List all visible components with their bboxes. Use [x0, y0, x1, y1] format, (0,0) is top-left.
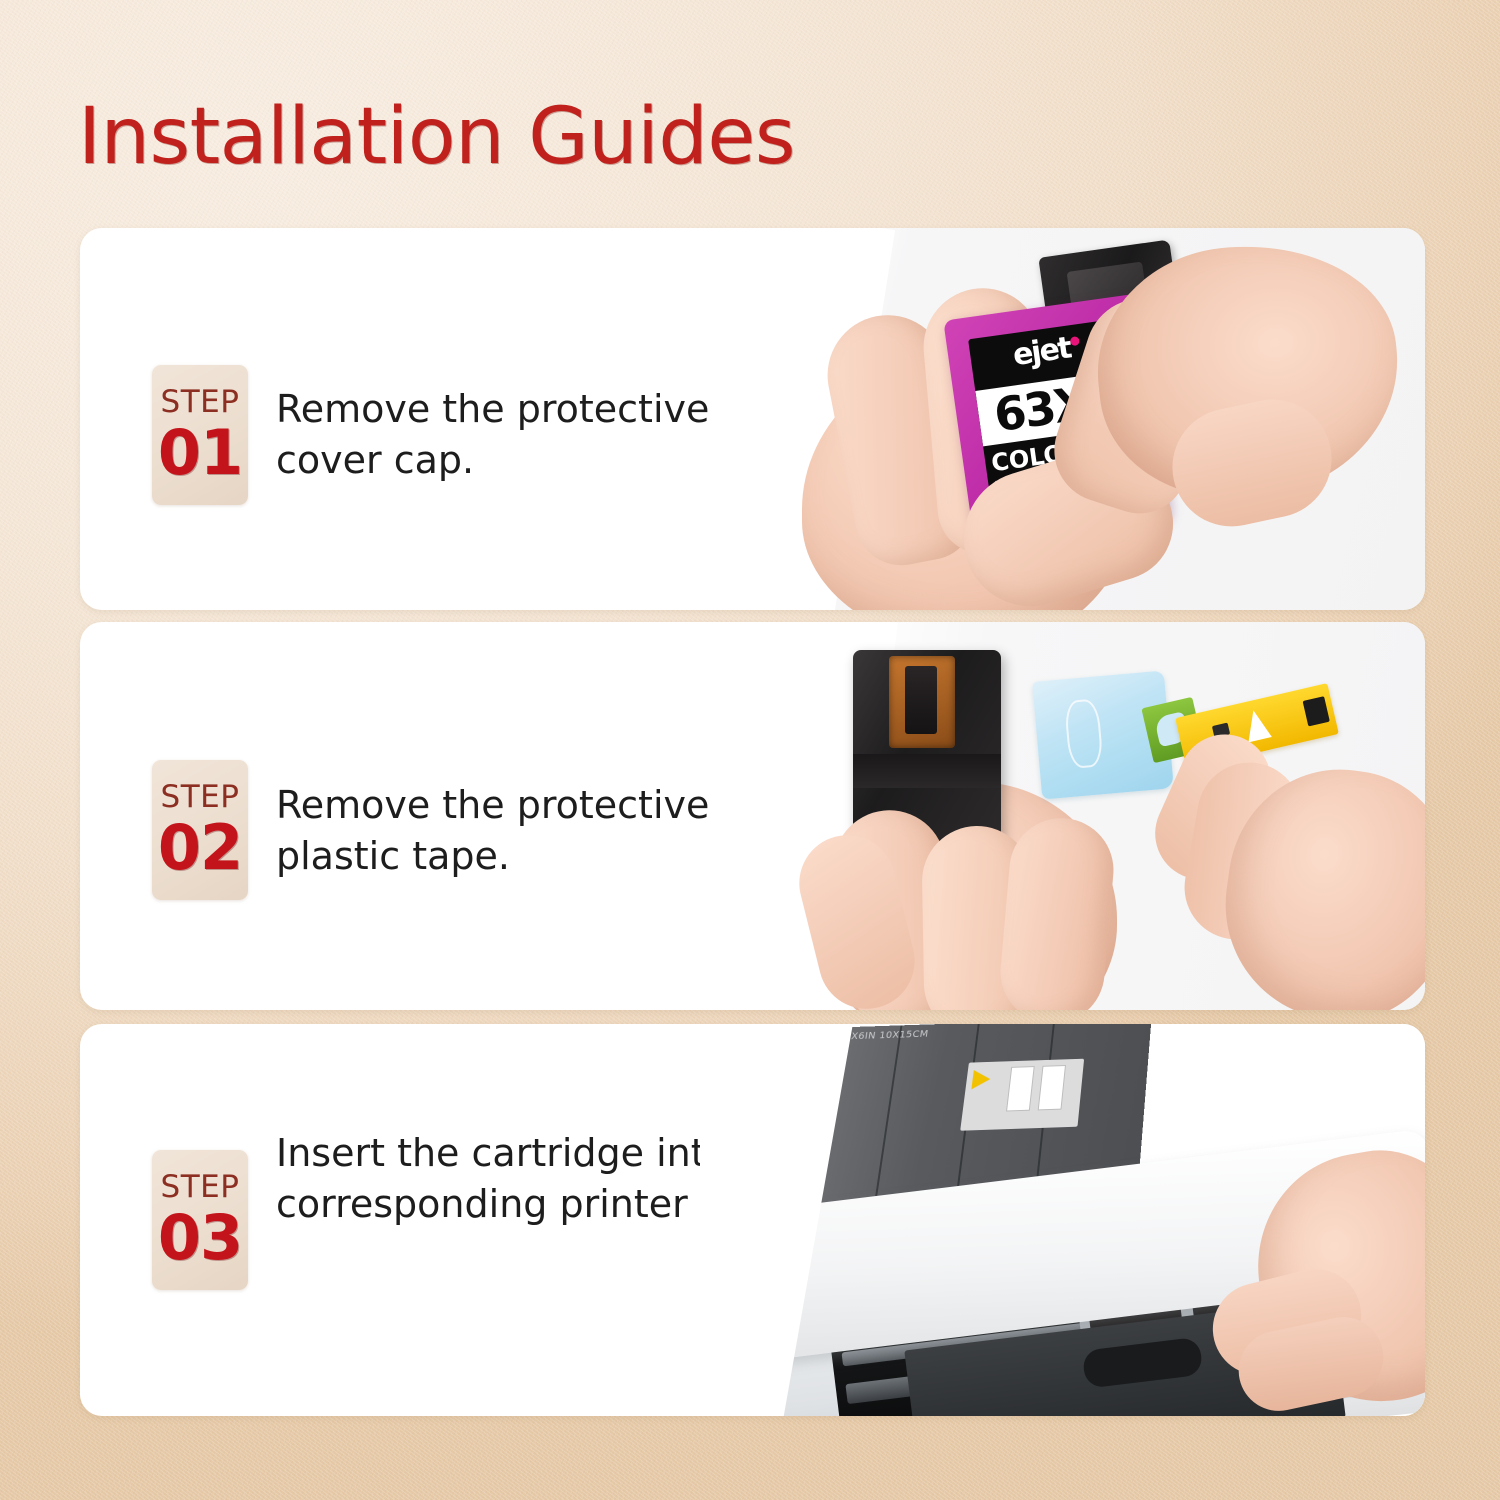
arrow-icon: [971, 1069, 991, 1089]
paper-size-label: 4X6IN 10X15CM: [844, 1030, 929, 1043]
step-description-2: Remove the protective plastic tape.: [276, 780, 786, 881]
step-badge-01: STEP 01: [152, 365, 248, 505]
step-badge-number: 02: [158, 817, 242, 879]
step-photo-1: ejet 63XL COLOR Replacement Ink Cartridg…: [780, 228, 1425, 610]
step-badge-word: STEP: [161, 387, 240, 418]
brand-text: ejet: [1011, 331, 1073, 374]
tab-end-block: [1303, 696, 1330, 726]
cartridge-nozzle-plate: [889, 656, 955, 748]
tray-instruction-label: [960, 1059, 1084, 1131]
label-box-icon: [1006, 1066, 1035, 1111]
installation-guide-page: Installation Guides STEP 01 Remove the p…: [0, 0, 1500, 1500]
step-badge-number: 03: [158, 1207, 242, 1269]
label-box-icon: [1038, 1065, 1066, 1110]
step-badge-number: 01: [158, 422, 242, 484]
cartridge-tape-removal-illustration: [775, 622, 1425, 1010]
cartridge-cover-cap-illustration: ejet 63XL COLOR Replacement Ink Cartridg…: [780, 228, 1425, 610]
step-badge-02: STEP 02: [152, 760, 248, 900]
page-title: Installation Guides: [78, 92, 795, 182]
step-badge-word: STEP: [161, 1172, 240, 1203]
tab-arrow-icon: [1242, 708, 1272, 743]
step-description-1: Remove the protective cover cap.: [276, 384, 786, 485]
step-card-1: STEP 01 Remove the protective cover cap.…: [80, 228, 1425, 610]
step-card-2: STEP 02 Remove the protective plastic ta…: [80, 622, 1425, 1010]
printer-cartridge-insertion-illustration: 4X6IN 10X15CM: [700, 1024, 1425, 1416]
step-photo-2: [775, 622, 1425, 1010]
door-grip-handle[interactable]: [1082, 1337, 1204, 1389]
brand-dot-icon: [1069, 336, 1079, 346]
step-badge-word: STEP: [161, 782, 240, 813]
step-card-3: STEP 03 Insert the cartridge into corres…: [80, 1024, 1425, 1416]
step-photo-3: 4X6IN 10X15CM: [700, 1024, 1425, 1416]
step-badge-03: STEP 03: [152, 1150, 248, 1290]
cartridge-band: [853, 754, 1001, 788]
